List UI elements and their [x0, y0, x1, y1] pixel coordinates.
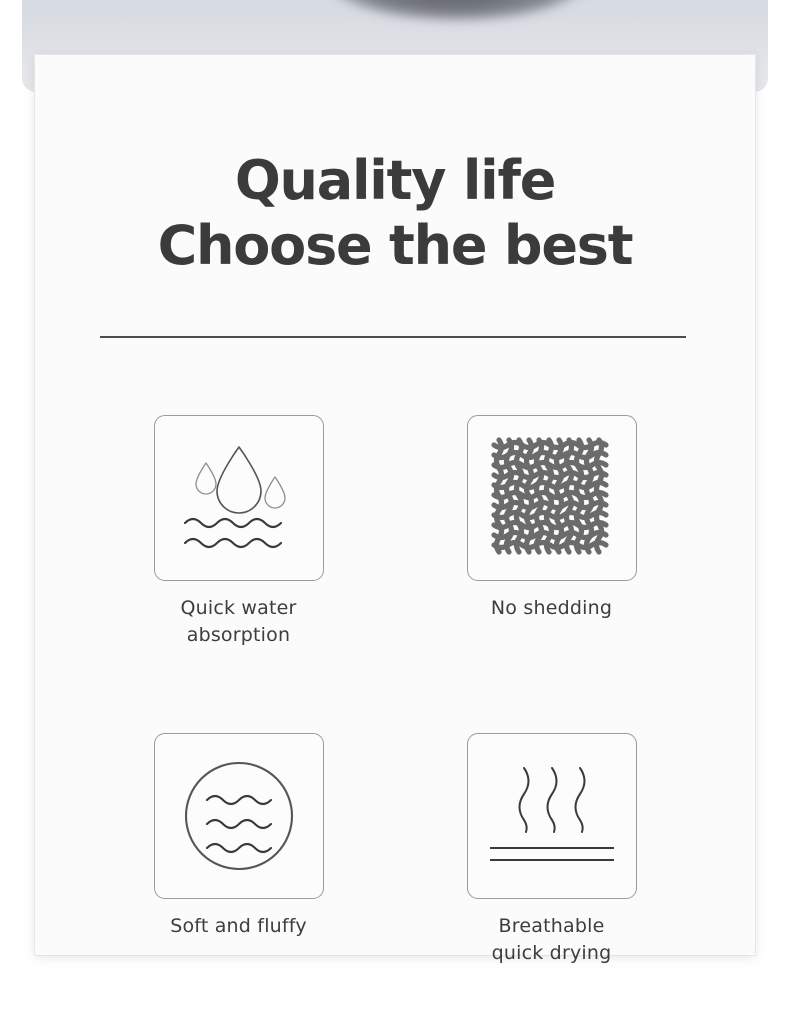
- feature-grid: Quick water absorption: [35, 415, 755, 967]
- feature-item-soft-and-fluffy: Soft and fluffy: [153, 733, 325, 967]
- icon-box: [467, 733, 637, 899]
- page-title-line-1: Quality life: [35, 148, 755, 213]
- feature-label: Breathable quick drying: [492, 913, 612, 967]
- feature-card: Quality life Choose the best: [35, 55, 755, 955]
- page-title-line-2: Choose the best: [35, 213, 755, 278]
- soft-waves-circle-icon: [177, 754, 301, 878]
- feature-row: Quick water absorption: [35, 415, 755, 649]
- feature-item-breathable-quick-drying: Breathable quick drying: [466, 733, 638, 967]
- icon-box: [467, 415, 637, 581]
- feature-item-quick-water-absorption: Quick water absorption: [153, 415, 325, 649]
- feature-label: Soft and fluffy: [170, 913, 307, 940]
- feature-label: Quick water absorption: [180, 595, 296, 649]
- icon-box: [154, 733, 324, 899]
- feature-label: No shedding: [491, 595, 612, 622]
- page-title: Quality life Choose the best: [35, 148, 755, 278]
- feature-item-no-shedding: No shedding: [466, 415, 638, 649]
- water-drop-absorption-icon: [169, 433, 309, 563]
- woven-fabric-mesh-icon: [490, 436, 614, 560]
- title-divider: [100, 336, 686, 338]
- icon-box: [154, 415, 324, 581]
- steam-breathable-icon: [482, 754, 622, 878]
- feature-row: Soft and fluffy: [35, 733, 755, 967]
